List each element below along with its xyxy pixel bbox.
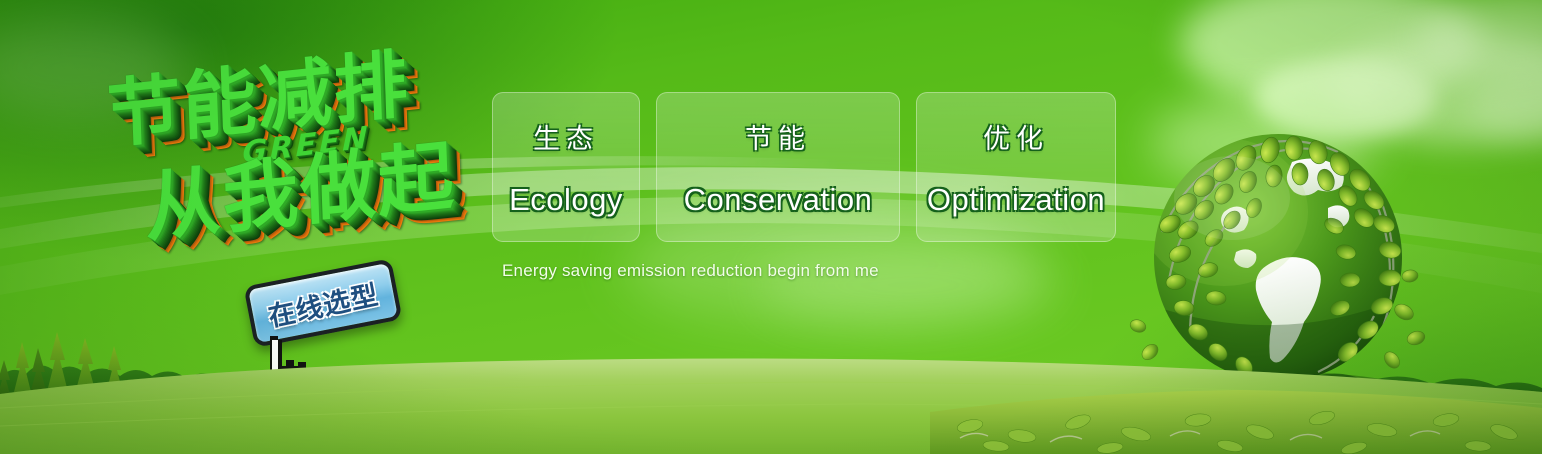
vignette-overlay xyxy=(0,0,1542,454)
eco-hero-banner: 节能减排 GREEN 从我做起 在线选型 生态 Ecology 节能 Conse… xyxy=(0,0,1542,454)
